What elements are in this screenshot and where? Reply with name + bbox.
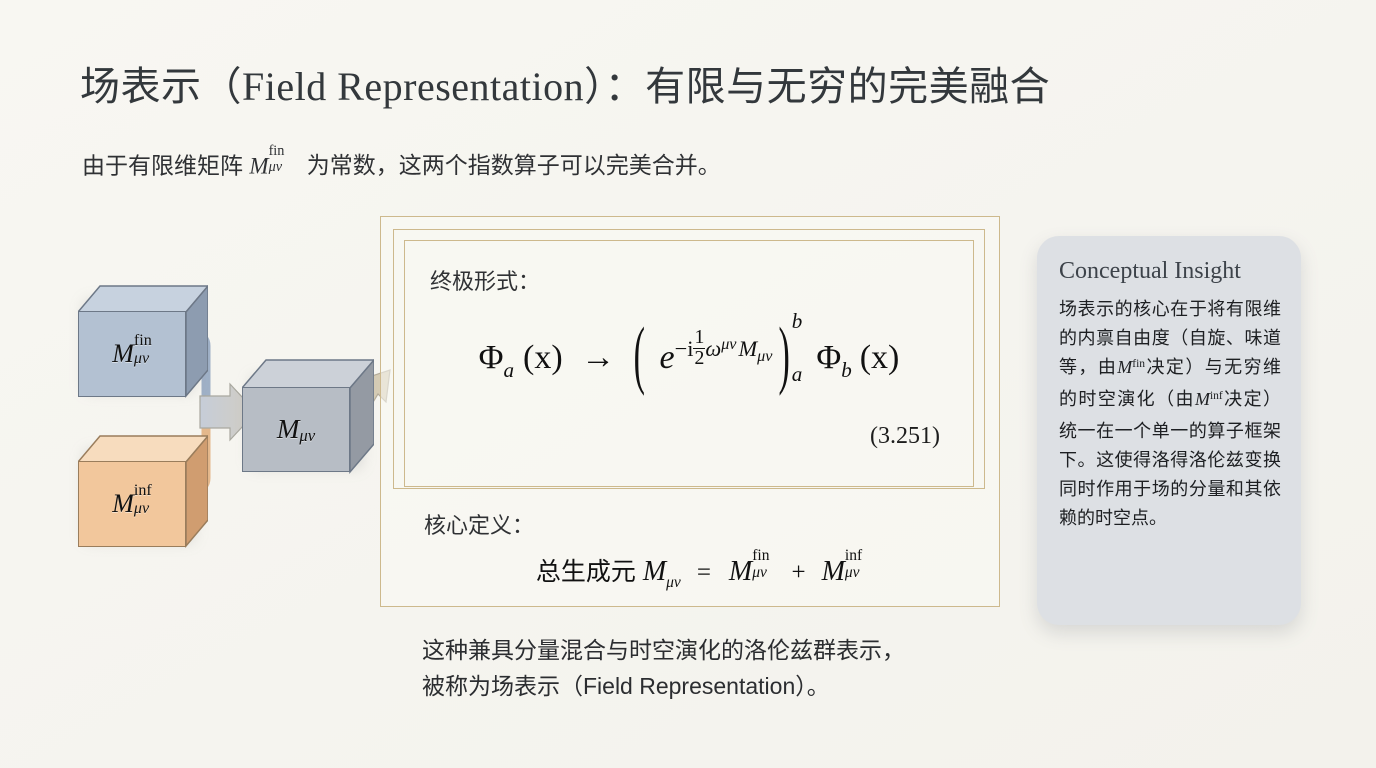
formula-exp-omega: ω xyxy=(705,336,721,361)
box-finite-front-face: Mfinμν xyxy=(78,311,186,397)
box-infinite-sub: μν xyxy=(134,501,152,517)
final-form-label: 终极形式： xyxy=(430,264,540,296)
box-total-generator: Mμν xyxy=(242,358,374,476)
box-infinite-indices: infμν xyxy=(134,488,152,520)
core-term1-symbol: M xyxy=(729,556,752,587)
core-equals: = xyxy=(697,559,711,586)
box-total-front-face: Mμν xyxy=(242,387,350,472)
core-term1-sub: μν xyxy=(752,565,769,581)
core-term1-indices: finμν xyxy=(752,553,769,584)
insight-title: Conceptual Insight xyxy=(1059,258,1281,285)
formula-frac-denominator: 2 xyxy=(693,349,705,369)
box-finite-generator: Mfinμν xyxy=(78,284,208,400)
box-finite-indices: finμν xyxy=(134,338,152,370)
formula-exp-sign: −i xyxy=(675,336,694,361)
box-infinite-generator: Minfμν xyxy=(78,434,208,550)
box-infinite-symbol: M xyxy=(112,489,134,519)
formula-frac-numerator: 1 xyxy=(693,328,705,349)
core-term2-symbol: M xyxy=(822,556,845,587)
formula-open-paren: ( xyxy=(634,314,645,400)
caption-block: 这种兼具分量混合与时空演化的洛伦兹群表示， 被称为场表示（Field Repre… xyxy=(422,632,905,704)
box-total-indices: μν xyxy=(299,421,315,438)
formula-lhs-arg: (x) xyxy=(523,339,563,376)
subtitle-sub: μν xyxy=(269,160,285,174)
subtitle-text-before: 由于有限维矩阵 xyxy=(82,152,249,178)
formula-rhs-sub-wrap: b xyxy=(841,351,852,372)
formula-rhs-arg: (x) xyxy=(860,339,900,376)
formula-lhs-sub-wrap: a xyxy=(503,351,514,372)
subtitle-sup: fin xyxy=(269,144,285,158)
insight-math-inf-sup: inf xyxy=(1210,390,1223,402)
core-definition-label: 核心定义： xyxy=(424,508,534,540)
formula-close-paren: ) xyxy=(778,314,789,400)
formula-exponent: −i12ωμνMμν xyxy=(675,336,773,361)
core-term2-sub: μν xyxy=(845,565,862,581)
core-plus: + xyxy=(791,559,805,586)
core-lhs-symbol: M xyxy=(643,556,666,587)
caption-line-1: 这种兼具分量混合与时空演化的洛伦兹群表示， xyxy=(422,632,905,668)
formula-rhs-sub: b xyxy=(841,360,852,381)
formula-rhs-phi: Φ xyxy=(816,339,841,376)
caption-line-2: 被称为场表示（Field Representation）。 xyxy=(422,668,905,704)
box-infinite-front-face: Minfμν xyxy=(78,461,186,547)
formula-M-sub: μν xyxy=(757,348,772,365)
formula-exp-M: M xyxy=(738,336,757,361)
formula-paren-sub: a xyxy=(792,364,803,385)
box-finite-symbol: M xyxy=(112,339,134,369)
formula-paren-indices: ba xyxy=(792,330,803,372)
box-infinite-sup: inf xyxy=(134,483,152,499)
formula-exp-fraction: 12 xyxy=(693,328,705,369)
box-total-symbol: M xyxy=(277,414,300,445)
slide-root: 场表示（Field Representation）：有限与无穷的完美融合 由于有… xyxy=(0,0,1376,768)
core-term2-indices: infμν xyxy=(845,553,862,584)
core-formula-prefix: 总生成元 xyxy=(536,558,643,586)
formula-lhs-sub: a xyxy=(503,360,514,381)
insight-math-fin: M xyxy=(1117,357,1132,377)
formula-exp-base: e xyxy=(659,339,674,376)
page-title: 场表示（Field Representation）：有限与无穷的完美融合 xyxy=(80,62,1050,112)
insight-math-inf: M xyxy=(1195,389,1210,409)
core-formula: 总生成元 Mμν=Mfinμν+Minfμν xyxy=(404,552,994,588)
formula-lhs-phi: Φ xyxy=(479,339,504,376)
insight-body-part3: 决定）统一在一个单一的算子框架下。这使得洛得洛伦兹变换同时作用于场的分量和其依赖… xyxy=(1059,389,1281,528)
insight-math-fin-sup: fin xyxy=(1132,358,1145,370)
subtitle-text-after: 为常数，这两个指数算子可以完美合并。 xyxy=(300,152,720,178)
box-finite-sub: μν xyxy=(134,351,152,367)
box-finite-sup: fin xyxy=(134,333,152,349)
conceptual-insight-panel: Conceptual Insight 场表示的核心在于将有限维的内禀自由度（自旋… xyxy=(1037,236,1301,625)
subtitle-math-indices: finμν xyxy=(269,148,285,177)
formula-omega-sup: μν xyxy=(721,336,736,353)
box-total-sub: μν xyxy=(299,428,315,445)
page-subtitle: 由于有限维矩阵 Mfinμν 为常数，这两个指数算子可以完美合并。 xyxy=(82,148,721,183)
main-formula: Φa(x) → ( e−i12ωμνMμν)baΦb(x) xyxy=(404,330,974,380)
formula-paren-sup: b xyxy=(792,311,803,332)
core-term2-sup: inf xyxy=(845,548,862,564)
equation-number: (3.251) xyxy=(870,423,940,450)
core-lhs-sub: μν xyxy=(666,575,681,591)
core-lhs-indices: μν xyxy=(666,568,681,584)
core-term1-sup: fin xyxy=(752,548,769,564)
insight-body: 场表示的核心在于将有限维的内禀自由度（自旋、味道等，由Mfin决定）与无穷维的时… xyxy=(1059,295,1281,533)
formula-arrow-glyph: → xyxy=(581,339,615,376)
subtitle-math-symbol: M xyxy=(249,153,268,178)
